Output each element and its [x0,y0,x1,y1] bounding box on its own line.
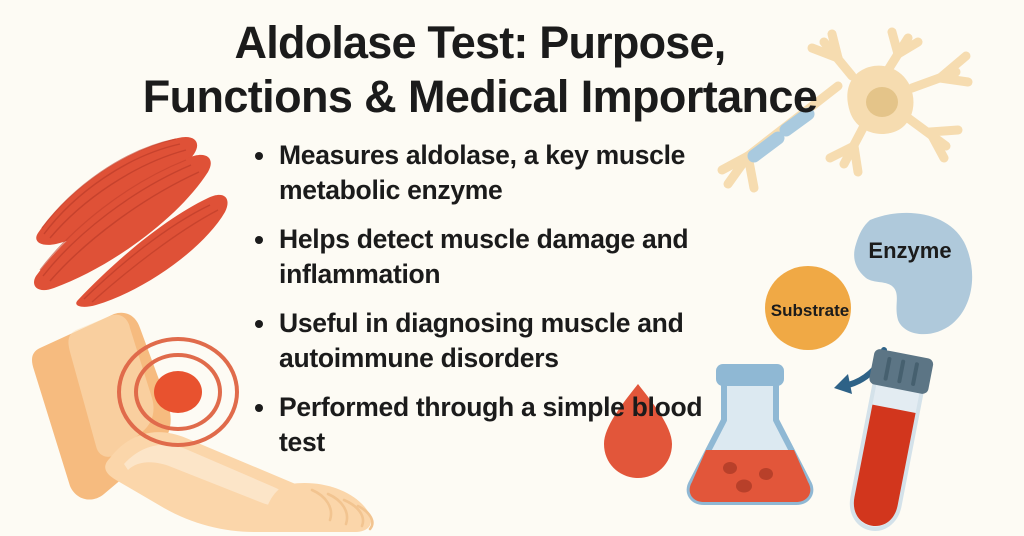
pain-indicator-icon [119,339,237,445]
bullet-dot-icon [255,152,263,160]
bullet-text: Useful in diagnosing muscle and autoimmu… [279,306,719,376]
list-item: Performed through a simple blood test [255,390,735,460]
flask-bubble [759,468,773,480]
bullet-text: Measures aldolase, a key muscle metaboli… [279,138,719,208]
flask-bubble [736,480,752,493]
bullet-list: Measures aldolase, a key muscle metaboli… [255,138,735,474]
neuron-icon [722,32,968,188]
list-item: Useful in diagnosing muscle and autoimmu… [255,306,735,376]
test-tube-icon [841,348,934,534]
neuron-illustration [712,6,1024,206]
bullet-dot-icon [255,404,263,412]
enzyme-shape [854,213,972,334]
neuron-nucleus [866,87,898,117]
enzyme-label: Enzyme [868,238,951,263]
myelin-sheath-icon [754,114,808,156]
infographic-canvas: Aldolase Test: Purpose, Functions & Medi… [0,0,1024,536]
bullet-dot-icon [255,320,263,328]
bullet-text: Performed through a simple blood test [279,390,719,460]
substrate-label: Substrate [771,301,849,320]
bullet-text: Helps detect muscle damage and inflammat… [279,222,719,292]
muscle-fiber-icon [34,137,228,307]
bullet-dot-icon [255,236,263,244]
muscle-fibers-illustration [28,128,258,308]
list-item: Measures aldolase, a key muscle metaboli… [255,138,735,208]
list-item: Helps detect muscle damage and inflammat… [255,222,735,292]
